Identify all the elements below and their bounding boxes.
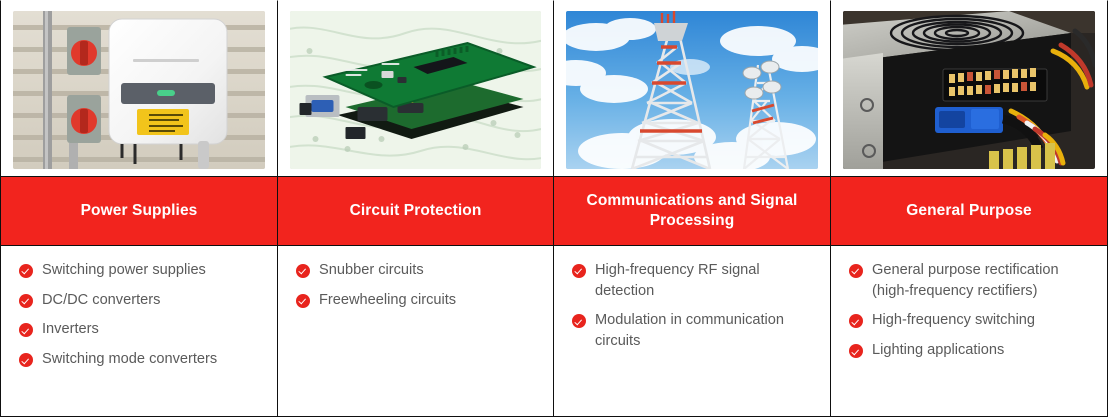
- list-item: Switching power supplies: [19, 260, 263, 281]
- column-image-cell-communications: [553, 0, 830, 176]
- computer-power-supply-photo: [843, 11, 1095, 169]
- column-image-cell-general-purpose: [830, 0, 1108, 176]
- check-circle-icon: [19, 353, 33, 367]
- feature-list: High-frequency RF signal detection Modul…: [572, 260, 816, 352]
- list-item: Snubber circuits: [296, 260, 539, 281]
- check-circle-icon: [572, 264, 586, 278]
- check-circle-icon: [19, 294, 33, 308]
- column-header-general-purpose: General Purpose: [830, 176, 1108, 246]
- list-item: High-frequency RF signal detection: [572, 260, 816, 301]
- column-title: Power Supplies: [81, 201, 198, 221]
- list-item: DC/DC converters: [19, 290, 263, 311]
- check-circle-icon: [572, 314, 586, 328]
- pcb-boards-photo: [290, 11, 541, 169]
- list-item: Inverters: [19, 319, 263, 340]
- column-title: Communications and Signal Processing: [564, 191, 820, 231]
- check-circle-icon: [19, 323, 33, 337]
- list-item: Modulation in communication circuits: [572, 310, 816, 351]
- column-list-communications: High-frequency RF signal detection Modul…: [553, 246, 830, 417]
- list-item: Freewheeling circuits: [296, 290, 539, 311]
- column-header-communications: Communications and Signal Processing: [553, 176, 830, 246]
- list-item: Switching mode converters: [19, 349, 263, 370]
- check-circle-icon: [849, 314, 863, 328]
- column-list-power-supplies: Switching power supplies DC/DC converter…: [0, 246, 277, 417]
- column-title: Circuit Protection: [350, 201, 482, 221]
- application-comparison-table: Power Supplies Circuit Protection Commun…: [0, 0, 1108, 417]
- column-image-cell-circuit-protection: [277, 0, 553, 176]
- solar-inverter-photo: [13, 11, 265, 169]
- column-list-circuit-protection: Snubber circuits Freewheeling circuits: [277, 246, 553, 417]
- column-header-power-supplies: Power Supplies: [0, 176, 277, 246]
- check-circle-icon: [296, 264, 310, 278]
- feature-list: General purpose rectification (high-freq…: [849, 260, 1093, 361]
- list-item: Lighting applications: [849, 340, 1093, 361]
- list-item: High-frequency switching: [849, 310, 1093, 331]
- column-title: General Purpose: [906, 201, 1032, 221]
- check-circle-icon: [849, 264, 863, 278]
- list-item: General purpose rectification (high-freq…: [849, 260, 1093, 301]
- column-list-general-purpose: General purpose rectification (high-freq…: [830, 246, 1108, 417]
- column-header-circuit-protection: Circuit Protection: [277, 176, 553, 246]
- check-circle-icon: [849, 344, 863, 358]
- feature-list: Snubber circuits Freewheeling circuits: [296, 260, 539, 310]
- column-image-cell-power-supplies: [0, 0, 277, 176]
- check-circle-icon: [296, 294, 310, 308]
- telecom-towers-photo: [566, 11, 818, 169]
- feature-list: Switching power supplies DC/DC converter…: [19, 260, 263, 370]
- check-circle-icon: [19, 264, 33, 278]
